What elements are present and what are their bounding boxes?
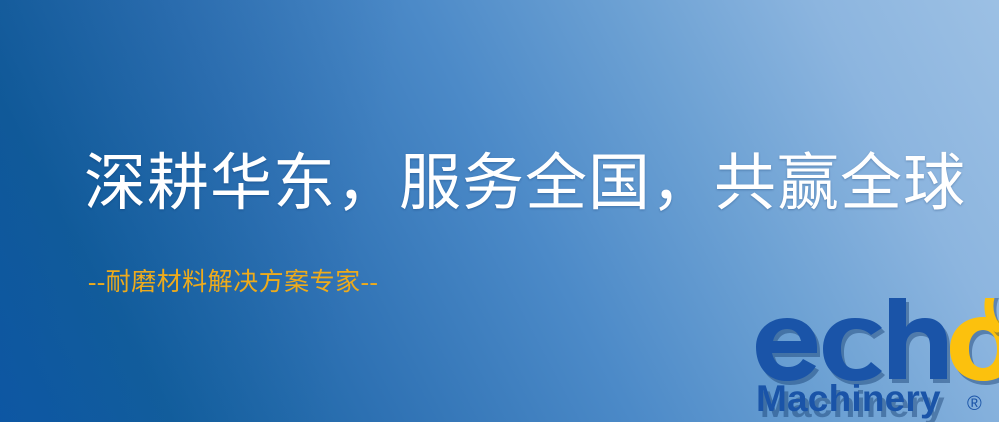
- hero-banner: 深耕华东，服务全国，共赢全球 --耐磨材料解决方案专家--: [0, 0, 999, 422]
- logo-tagline: Machinery: [756, 378, 941, 419]
- banner-headline: 深耕华东，服务全国，共赢全球: [84, 152, 966, 217]
- logo-echo-letters: [756, 298, 947, 381]
- banner-subtitle: --耐磨材料解决方案专家--: [88, 268, 378, 298]
- echo-machinery-logo[interactable]: Machinery Machinery ®: [748, 298, 999, 422]
- logo-registered-mark: ®: [967, 393, 982, 415]
